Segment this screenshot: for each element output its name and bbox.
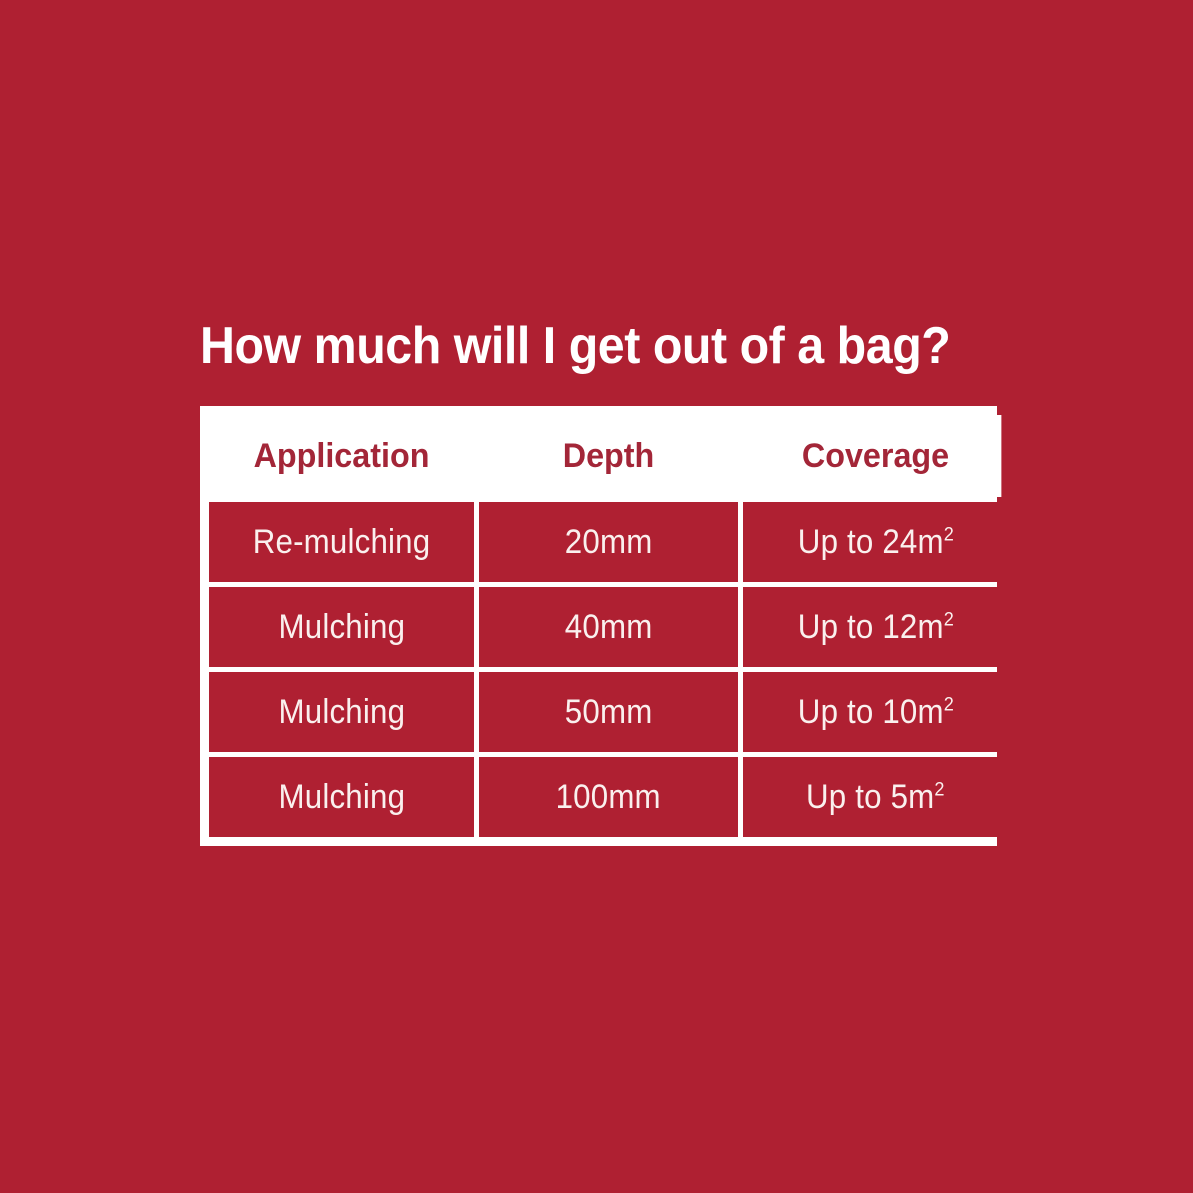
- column-header-coverage: Coverage: [750, 415, 1002, 497]
- column-header-application: Application: [216, 415, 468, 497]
- table-row: Mulching 50mm Up to 10m2: [209, 672, 1008, 752]
- cell-depth-value: 20mm: [565, 523, 653, 562]
- cell-coverage-text: Up to 5m: [806, 778, 934, 816]
- cell-application: Mulching: [209, 587, 474, 667]
- table-header: Application Depth Coverage: [209, 415, 1008, 497]
- poster-canvas: How much will I get out of a bag? Applic…: [0, 0, 1193, 1193]
- cell-application-value: Mulching: [278, 608, 405, 647]
- cell-depth: 20mm: [479, 502, 738, 582]
- cell-coverage-value: Up to 10m2: [797, 693, 953, 732]
- cell-coverage-value: Up to 12m2: [797, 608, 953, 647]
- cell-depth-value: 40mm: [565, 608, 653, 647]
- cell-coverage-text: Up to 12m: [797, 608, 943, 646]
- cell-coverage-value: Up to 24m2: [797, 523, 953, 562]
- cell-depth: 50mm: [479, 672, 738, 752]
- cell-application: Mulching: [209, 757, 474, 837]
- table-row: Re-mulching 20mm Up to 24m2: [209, 502, 1008, 582]
- cell-application-value: Mulching: [278, 778, 405, 817]
- cell-depth: 100mm: [479, 757, 738, 837]
- page-title: How much will I get out of a bag?: [200, 315, 963, 377]
- cell-application: Mulching: [209, 672, 474, 752]
- cell-coverage-value: Up to 5m2: [806, 778, 945, 817]
- cell-coverage: Up to 24m2: [743, 502, 1008, 582]
- cell-coverage-text: Up to 24m: [797, 523, 943, 561]
- cell-coverage: Up to 12m2: [743, 587, 1008, 667]
- coverage-table: Application Depth Coverage Re-mulching 2…: [200, 406, 997, 846]
- table-row: Mulching 40mm Up to 12m2: [209, 587, 1008, 667]
- column-header-depth: Depth: [485, 415, 731, 497]
- cell-depth: 40mm: [479, 587, 738, 667]
- cell-coverage: Up to 5m2: [743, 757, 1008, 837]
- table-header-row: Application Depth Coverage: [209, 415, 1008, 497]
- table-body: Re-mulching 20mm Up to 24m2 Mulching 40m…: [209, 502, 1008, 837]
- cell-coverage-superscript: 2: [935, 778, 945, 800]
- cell-depth-value: 50mm: [565, 693, 653, 732]
- coverage-table-grid: Application Depth Coverage Re-mulching 2…: [204, 410, 1013, 842]
- cell-coverage-superscript: 2: [943, 693, 953, 715]
- cell-coverage-superscript: 2: [943, 608, 953, 630]
- table-row: Mulching 100mm Up to 5m2: [209, 757, 1008, 837]
- cell-coverage: Up to 10m2: [743, 672, 1008, 752]
- cell-application-value: Mulching: [278, 693, 405, 732]
- cell-coverage-superscript: 2: [943, 523, 953, 545]
- cell-application-value: Re-mulching: [253, 523, 431, 562]
- cell-application: Re-mulching: [209, 502, 474, 582]
- cell-coverage-text: Up to 10m: [797, 693, 943, 731]
- cell-depth-value: 100mm: [556, 778, 661, 817]
